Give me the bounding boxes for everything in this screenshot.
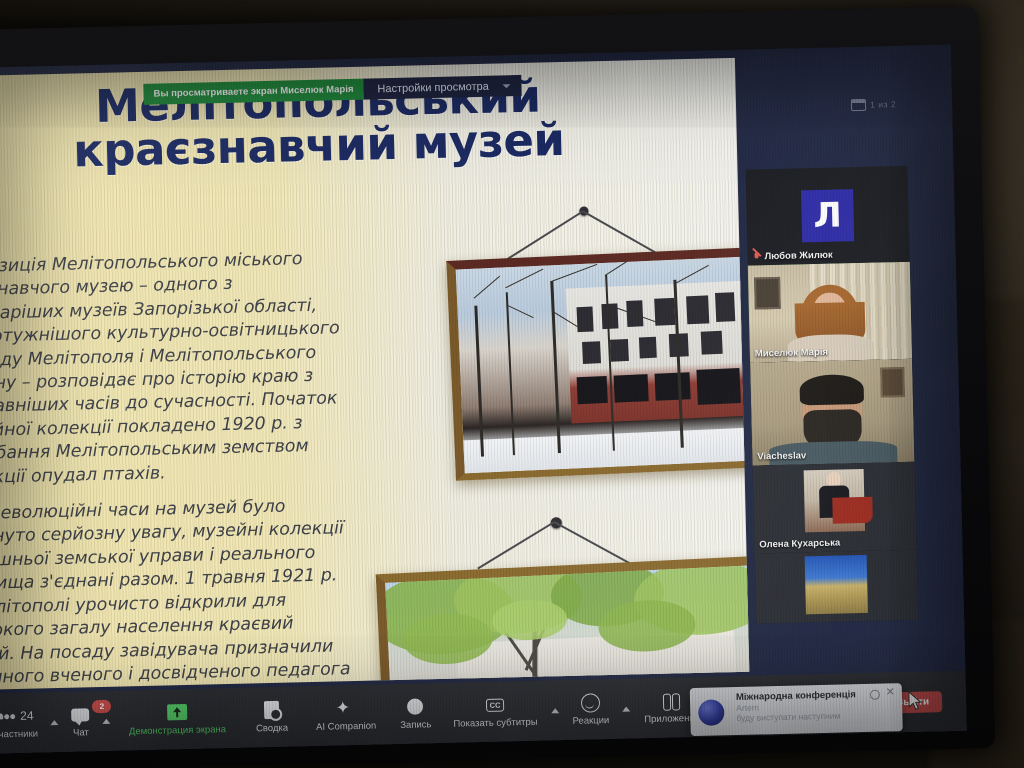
- participant-name: Миселюк Марія: [755, 347, 828, 360]
- shared-slide: Мелітопольський краєзнавчий музей Експоз…: [0, 58, 749, 690]
- toolbar-participants-label: Участники: [0, 729, 38, 741]
- people-icon: 24: [0, 706, 34, 727]
- summary-doc-icon: [264, 700, 279, 720]
- zoom-app-window: Мелітопольський краєзнавчий музей Експоз…: [0, 45, 967, 754]
- picture-wire: [478, 521, 556, 569]
- toolbar-summary-button[interactable]: Сводка: [239, 686, 304, 747]
- participant-photo: [755, 550, 919, 624]
- webcam-video: [750, 359, 914, 466]
- toolbar-share-screen-button[interactable]: Демонстрация экрана: [114, 688, 240, 751]
- slide-body-text: Експозиція Мелітопольського міського кра…: [0, 247, 356, 690]
- picture-wire: [554, 521, 634, 565]
- participant-name-label: Viacheslav: [757, 450, 806, 462]
- participant-name: Олена Кухарська: [759, 538, 840, 551]
- avatar: [698, 699, 725, 726]
- toolbar-participants-button[interactable]: 24 Участники: [0, 692, 47, 753]
- slide-photo-1: [446, 247, 749, 480]
- share-screen-icon: [167, 702, 187, 722]
- slide-photo-1-frame: [433, 203, 739, 462]
- participant-tile-olena-kukharska[interactable]: Олена Кухарська: [752, 462, 916, 554]
- participant-tile-lyubov-zhyliuk[interactable]: Л Любов Жилюк: [746, 166, 910, 266]
- participant-name-label: Миселюк Марія: [755, 347, 828, 360]
- reactions-caret-button[interactable]: [617, 678, 634, 738]
- toolbar-reactions-button[interactable]: Реакции: [563, 679, 619, 740]
- toolbar-ai-label: AI Companion: [316, 721, 376, 733]
- participant-filmstrip: Л Любов Жилюк Миселюк Марія: [746, 166, 919, 624]
- mouse-cursor: [908, 691, 922, 711]
- chevron-up-icon: [51, 720, 59, 725]
- participant-name-label: Олена Кухарська: [759, 538, 840, 551]
- toolbar-chat-label: Чат: [73, 727, 89, 738]
- participant-tile-myseliuk-mariia[interactable]: Миселюк Марія: [748, 262, 912, 363]
- toolbar-reactions-label: Реакции: [572, 715, 609, 727]
- toolbar-record-button[interactable]: Запись: [387, 683, 444, 744]
- participant-name: Любов Жилюк: [752, 250, 832, 263]
- photo-winter-street: [456, 257, 750, 474]
- slide-paragraph-1: Експозиція Мелітопольського міського кра…: [0, 247, 351, 490]
- toolbar-share-label: Демонстрация экрана: [129, 724, 226, 737]
- toolbar-captions-button[interactable]: CC Показать субтитры: [442, 681, 548, 743]
- captions-caret-button[interactable]: [547, 680, 564, 740]
- participant-tile-5[interactable]: [755, 550, 919, 624]
- slide-photo-2: [376, 555, 750, 689]
- mic-muted-icon: [752, 252, 760, 262]
- participant-name: Viacheslav: [757, 450, 806, 462]
- chat-unread-badge: 2: [92, 700, 111, 713]
- smiley-icon: [581, 692, 600, 712]
- record-circle-icon: [407, 696, 423, 716]
- cc-icon: CC: [485, 695, 504, 715]
- chat-notification-toast[interactable]: ✕ Міжнародна конференція Artem буду вист…: [690, 683, 903, 736]
- photo-summer-building: [385, 565, 749, 690]
- toolbar-chat-button[interactable]: 2 Чат: [62, 691, 99, 752]
- chat-bubble-icon: [71, 704, 89, 724]
- sparkle-icon: ✦: [335, 698, 355, 718]
- view-mode-indicator[interactable]: 1 из 2: [851, 98, 896, 111]
- participants-count: 24: [20, 709, 34, 723]
- participants-caret-button[interactable]: [46, 692, 63, 752]
- avatar: Л: [801, 189, 854, 242]
- view-settings-button[interactable]: Настройки просмотра: [363, 75, 522, 100]
- toolbar-record-label: Запись: [400, 719, 431, 731]
- toolbar-ai-companion-button[interactable]: ✦ AI Companion: [303, 684, 389, 746]
- participant-tile-viacheslav[interactable]: Viacheslav: [750, 359, 914, 466]
- apps-icon: [663, 690, 680, 710]
- view-settings-label: Настройки просмотра: [377, 80, 489, 95]
- monitor: Мелітопольський краєзнавчий музей Експоз…: [0, 6, 995, 768]
- slide-photo-2-frame: [371, 512, 750, 689]
- chevron-up-icon: [103, 718, 111, 723]
- chevron-up-icon: [622, 706, 630, 711]
- chevron-up-icon: [551, 708, 559, 713]
- monitor-panel: Мелітопольський краєзнавчий музей Експоз…: [0, 45, 967, 754]
- close-icon[interactable]: ✕: [886, 687, 895, 698]
- view-mode-label: 1 из 2: [870, 99, 896, 110]
- chevron-down-icon: [503, 84, 511, 88]
- photo-scene: Мелітопольський краєзнавчий музей Експоз…: [0, 0, 1024, 768]
- participant-name-label: Любов Жилюк: [764, 250, 832, 263]
- toolbar-summary-label: Сводка: [256, 723, 288, 735]
- toolbar-captions-label: Показать субтитры: [453, 717, 537, 730]
- slide-paragraph-2: У пореволюційні часи на музей було зверн…: [0, 494, 356, 690]
- grid-view-icon: [851, 99, 866, 111]
